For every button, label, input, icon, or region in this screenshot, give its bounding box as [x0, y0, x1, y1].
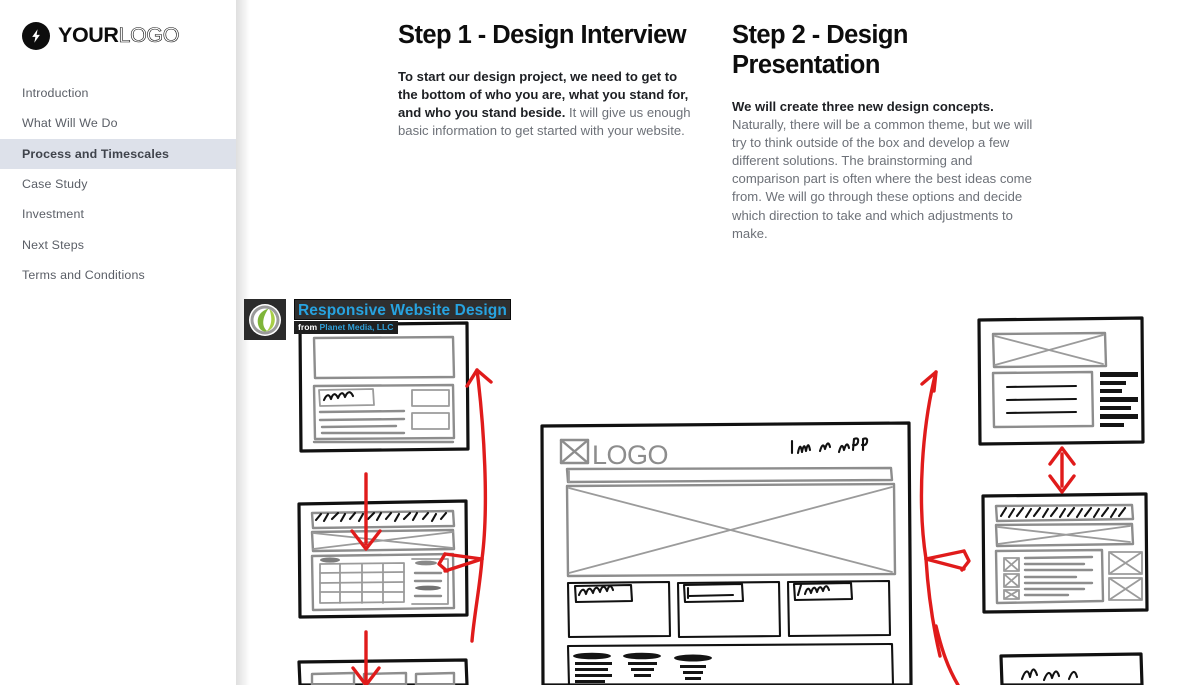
sidebar-item-what-will-we-do[interactable]: What Will We Do — [0, 108, 236, 138]
responsive-design-diagram: .ink { fill:none; stroke:#111111; stroke… — [236, 296, 1200, 685]
wireframe-right-bottom — [1001, 654, 1142, 685]
sidebar-item-terms-and-conditions[interactable]: Terms and Conditions — [0, 260, 236, 290]
step-1-column: Step 1 - Design Interview To start our d… — [398, 20, 691, 140]
brand-name-light: LOGO — [119, 23, 180, 47]
step-2-body-bold: We will create three new design concepts… — [732, 99, 994, 114]
wireframe-right-middle — [983, 494, 1147, 612]
wireframe-right-top — [979, 318, 1143, 444]
center-wireframe-logo-label: LOGO — [592, 440, 668, 470]
wireframe-left-bottom — [299, 660, 467, 685]
step-1-title: Step 1 - Design Interview — [398, 20, 691, 50]
sidebar-item-investment[interactable]: Investment — [0, 199, 236, 229]
sidebar-item-process-and-timescales[interactable]: Process and Timescales — [0, 139, 236, 169]
brand-logo[interactable]: YOURLOGO — [22, 22, 179, 50]
step-2-column: Step 2 - Design Presentation We will cre… — [732, 20, 1034, 243]
brand-name-bold: YOUR — [58, 23, 119, 47]
wireframe-left-top — [300, 323, 468, 451]
step-2-title: Step 2 - Design Presentation — [732, 20, 1034, 80]
sidebar-item-introduction[interactable]: Introduction — [0, 78, 236, 108]
wireframe-center-desktop: LOGO — [542, 423, 911, 685]
sidebar: YOURLOGO Introduction What Will We Do Pr… — [0, 0, 236, 685]
arrow-right-vertical — [921, 372, 969, 656]
main-content: Step 1 - Design Interview To start our d… — [236, 0, 1200, 685]
step-1-body: To start our design project, we need to … — [398, 68, 691, 140]
arrow-left-down-2 — [353, 632, 379, 685]
sidebar-nav: Introduction What Will We Do Process and… — [0, 78, 236, 290]
lightning-bolt-icon — [22, 22, 50, 50]
page-root: YOURLOGO Introduction What Will We Do Pr… — [0, 0, 1200, 685]
step-2-body: We will create three new design concepts… — [732, 98, 1034, 243]
arrow-right-double — [1050, 448, 1074, 492]
step-2-body-rest: Naturally, there will be a common theme,… — [732, 117, 1032, 240]
sidebar-item-case-study[interactable]: Case Study — [0, 169, 236, 199]
sidebar-item-next-steps[interactable]: Next Steps — [0, 229, 236, 259]
